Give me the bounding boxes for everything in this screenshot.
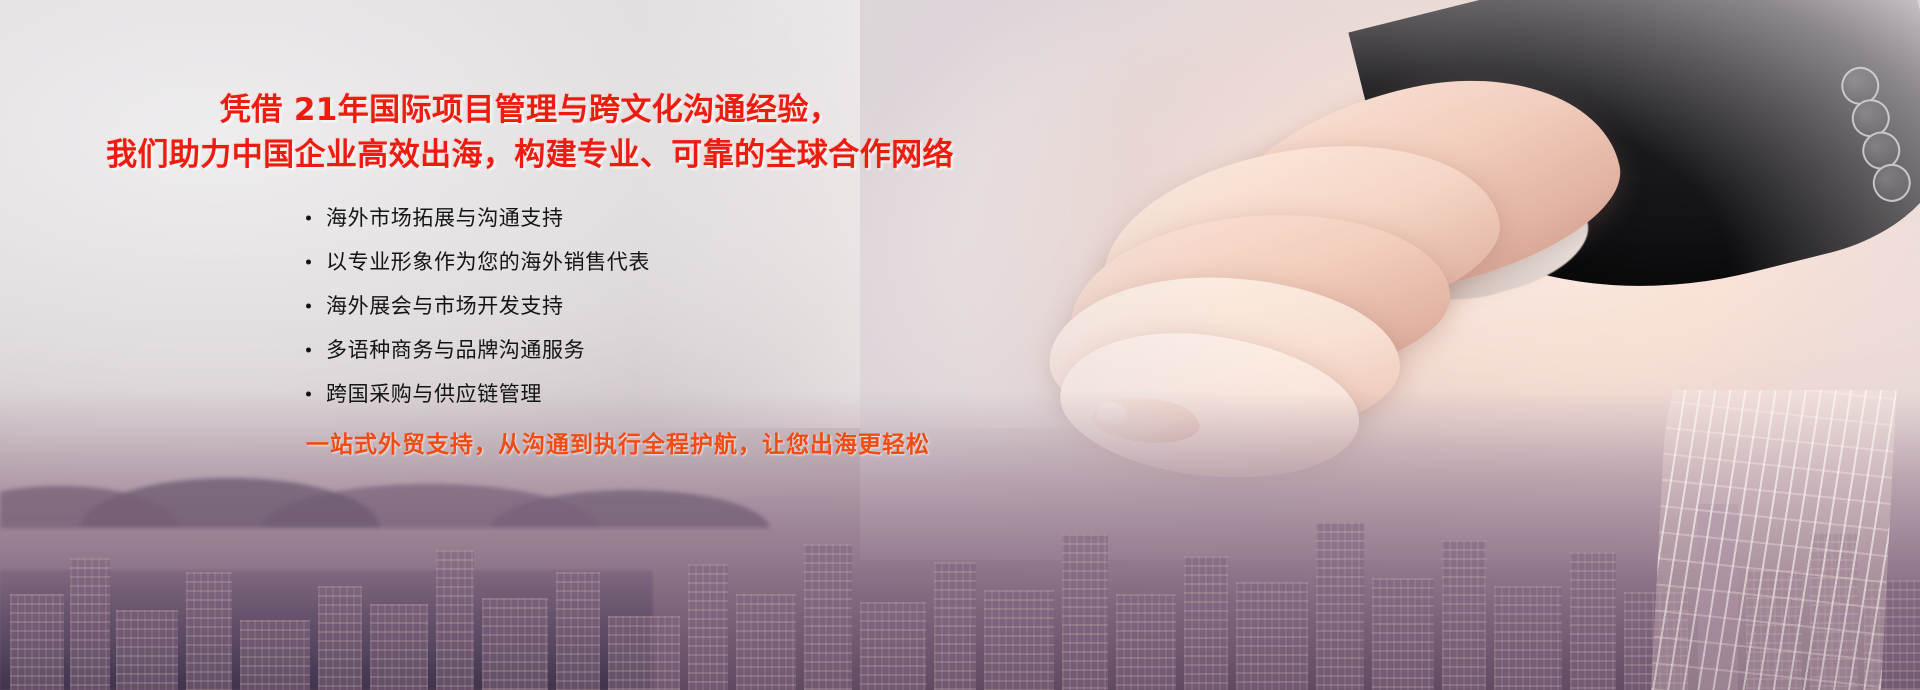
bullet-dot-icon [306,392,311,397]
marketing-banner: 凭借 21年国际项目管理与跨文化沟通经验， 我们助力中国企业高效出海，构建专业、… [0,0,1920,690]
list-item-label: 以专业形象作为您的海外销售代表 [326,250,650,274]
headline-line-2: 我们助力中国企业高效出海，构建专业、可靠的全球合作网络 [0,133,1060,178]
building [1116,594,1176,690]
headline-line-1: 凭借 21年国际项目管理与跨文化沟通经验， [220,92,840,128]
building [1372,578,1434,690]
list-item: 多语种商务与品牌沟通服务 [306,328,650,372]
list-item-label: 海外市场拓展与沟通支持 [326,206,564,230]
list-item-label: 多语种商务与品牌沟通服务 [326,338,585,362]
bullet-dot-icon [306,216,311,221]
list-item: 海外市场拓展与沟通支持 [306,196,650,240]
building [1236,582,1308,690]
list-item: 以专业形象作为您的海外销售代表 [306,240,650,284]
list-item-label: 海外展会与市场开发支持 [326,294,564,318]
building [1442,540,1486,690]
building [1184,556,1228,690]
building [1570,552,1616,690]
list-item: 海外展会与市场开发支持 [306,284,650,328]
service-list: 海外市场拓展与沟通支持 以专业形象作为您的海外销售代表 海外展会与市场开发支持 … [306,196,650,416]
headline: 凭借 21年国际项目管理与跨文化沟通经验， 我们助力中国企业高效出海，构建专业、… [0,88,1060,178]
building [1316,522,1364,690]
bullet-dot-icon [306,304,311,309]
building [1494,586,1562,690]
lattice-tower [1651,390,1903,690]
tagline: 一站式外贸支持，从沟通到执行全程护航，让您出海更轻松 [306,425,930,459]
banner-copy: 凭借 21年国际项目管理与跨文化沟通经验， 我们助力中国企业高效出海，构建专业、… [0,0,1100,690]
list-item-label: 跨国采购与供应链管理 [326,382,542,406]
list-item: 跨国采购与供应链管理 [306,372,650,416]
bullet-dot-icon [306,348,311,353]
bullet-dot-icon [306,260,311,265]
